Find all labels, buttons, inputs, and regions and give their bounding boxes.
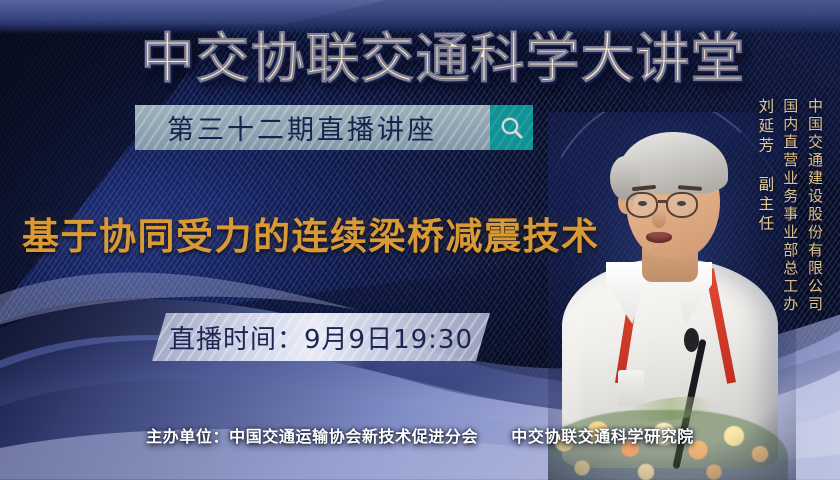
footer-organizers: 主办单位：中国交通运输协会新技术促进分会 中交协联交通科学研究院 <box>0 423 840 447</box>
page-title: 中交协联交通科学大讲堂 <box>0 14 840 93</box>
speaker-credentials: 中国交通建设股份有限公司 国内直营业务事业部总工办 刘延芳 副主任 <box>753 98 826 314</box>
search-icon <box>499 115 525 141</box>
search-button[interactable] <box>490 105 533 150</box>
subtitle-label: 第三十二期直播讲座 <box>135 108 437 147</box>
subtitle-bar: 第三十二期直播讲座 <box>135 105 533 150</box>
lecture-title: 基于协同受力的连续梁桥减震技术 <box>22 206 622 260</box>
poster-canvas: 中交协联交通科学大讲堂 第三十二期直播讲座 基于协同受力的连续梁桥减震技术 直播… <box>0 0 840 480</box>
speaker-affiliation-department: 国内直营业务事业部总工办 <box>778 98 801 314</box>
subtitle-band: 第三十二期直播讲座 <box>135 105 490 150</box>
livestream-time-label: 直播时间：9月9日19:30 <box>169 319 473 356</box>
livestream-time-badge: 直播时间：9月9日19:30 <box>152 313 490 361</box>
speaker-affiliation-company: 中国交通建设股份有限公司 <box>803 98 826 314</box>
speaker-name-title: 刘延芳 副主任 <box>753 98 777 235</box>
